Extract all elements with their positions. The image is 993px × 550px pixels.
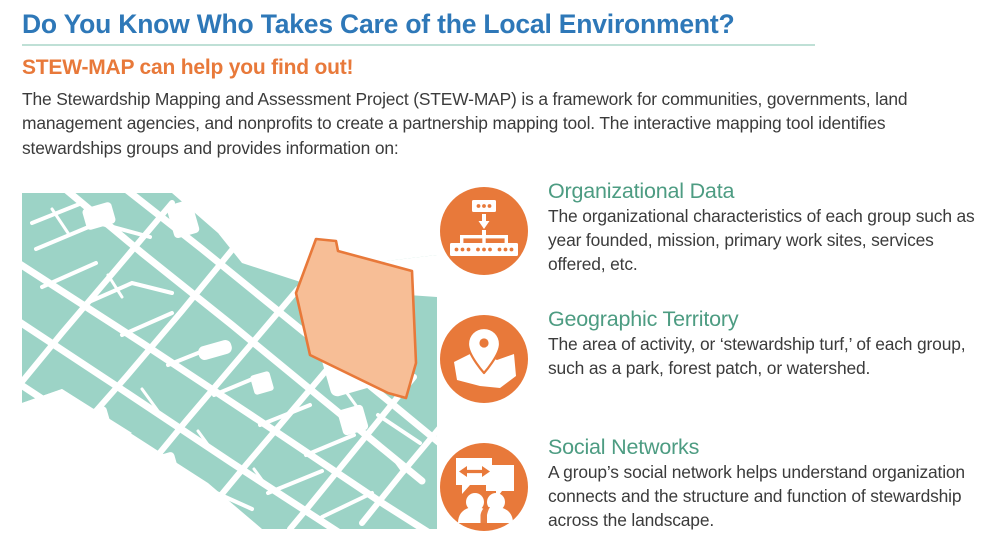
map-svg xyxy=(22,193,437,529)
intro-paragraph: The Stewardship Mapping and Assessment P… xyxy=(22,87,967,161)
map-pin-territory-icon xyxy=(440,315,528,403)
page-subtitle: STEW-MAP can help you find out! xyxy=(22,56,972,80)
feature-text: Social Networks A group’s social network… xyxy=(548,435,993,533)
organization-chart-icon xyxy=(440,187,528,275)
stewardship-territory-map xyxy=(22,193,437,529)
feature-row: Social Networks A group’s social network… xyxy=(440,435,993,550)
title-divider xyxy=(22,44,815,46)
feature-text: Geographic Territory The area of activit… xyxy=(548,307,993,381)
header-block: Do You Know Who Takes Care of the Local … xyxy=(22,10,972,161)
feature-heading: Geographic Territory xyxy=(548,307,993,332)
feature-body: The organizational characteristics of ea… xyxy=(548,205,993,277)
feature-heading: Organizational Data xyxy=(548,179,993,204)
social-network-conversation-icon xyxy=(440,443,528,531)
feature-body: The area of activity, or ‘stewardship tu… xyxy=(548,333,993,381)
page-title: Do You Know Who Takes Care of the Local … xyxy=(22,10,972,40)
feature-row: Organizational Data The organizational c… xyxy=(440,179,993,294)
feature-text: Organizational Data The organizational c… xyxy=(548,179,993,277)
feature-heading: Social Networks xyxy=(548,435,993,460)
feature-row: Geographic Territory The area of activit… xyxy=(440,307,993,422)
feature-body: A group’s social network helps understan… xyxy=(548,461,993,533)
